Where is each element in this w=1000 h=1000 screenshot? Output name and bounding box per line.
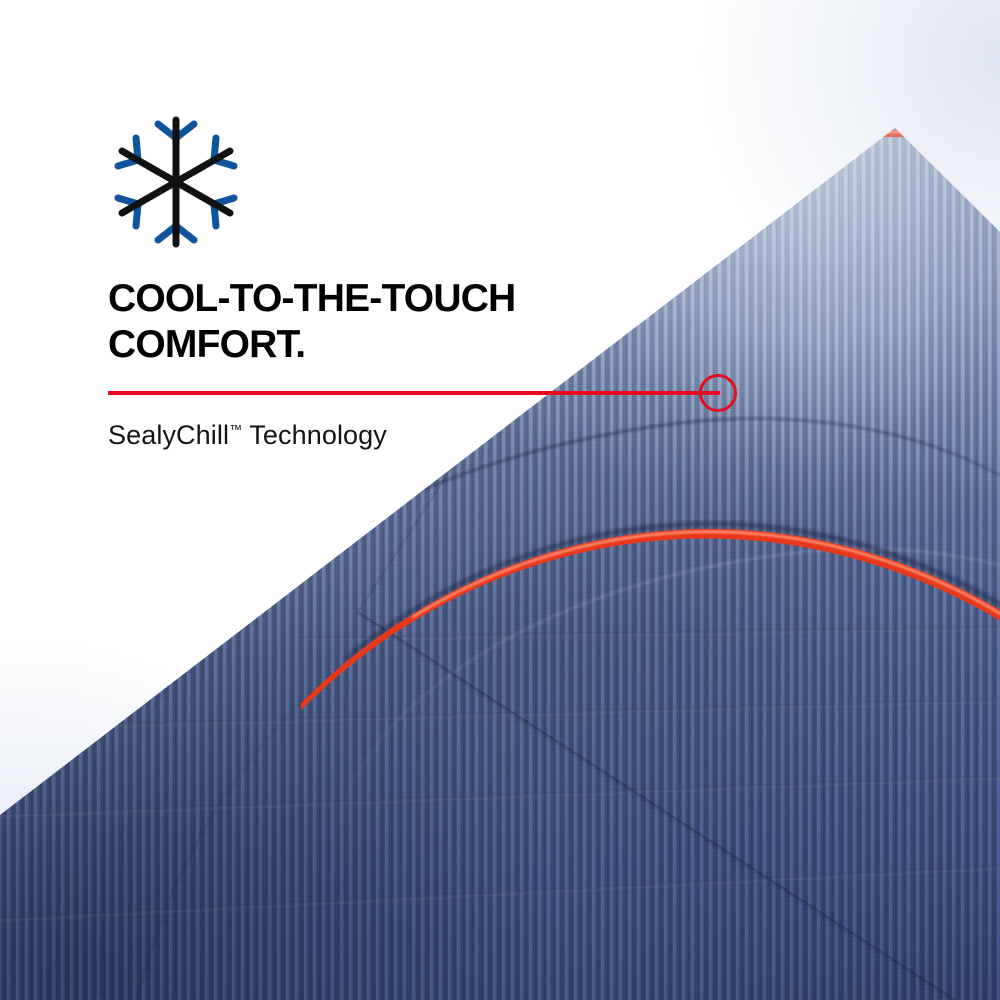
overlay-content: COOL-TO-THE-TOUCH COMFORT. SealyChill™ T… [0,0,1000,1000]
callout-circle-marker [699,374,737,412]
trademark-symbol: ™ [229,422,242,437]
subtitle-brand: SealyChill [108,420,229,450]
snowflake-icon [106,112,246,252]
headline-line-1: COOL-TO-THE-TOUCH [108,276,668,322]
product-feature-graphic: COOL-TO-THE-TOUCH COMFORT. SealyChill™ T… [0,0,1000,1000]
callout-leader-line [108,391,720,395]
subtitle: SealyChill™ Technology [108,420,387,451]
page-title: COOL-TO-THE-TOUCH COMFORT. [108,276,668,368]
subtitle-suffix: Technology [242,420,387,450]
headline-line-2: COMFORT. [108,322,668,368]
